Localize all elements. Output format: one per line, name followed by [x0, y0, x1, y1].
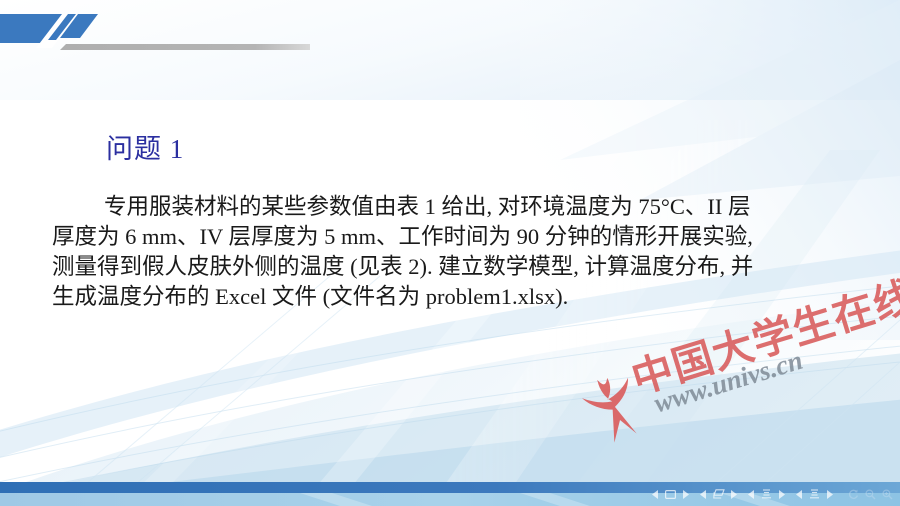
watermark-sub-text: www.univs.cn: [650, 345, 806, 420]
body-line-3: 测量得到假人皮肤外侧的温度 (见表 2). 建立数学模型, 计算温度分布, 并: [52, 252, 852, 282]
next-arrow-icon[interactable]: [823, 487, 836, 501]
page-title: 问题 1: [106, 127, 184, 166]
star-person-icon: [572, 360, 662, 456]
next-arrow-icon[interactable]: [727, 487, 740, 501]
prev-arrow-icon[interactable]: [745, 487, 758, 501]
body-line-4: 生成温度分布的 Excel 文件 (文件名为 problem1.xlsx).: [52, 282, 852, 312]
header-shapes: [0, 0, 340, 62]
layers-icon[interactable]: [712, 487, 725, 501]
next-arrow-icon[interactable]: [679, 487, 692, 501]
zoom-in-icon[interactable]: [881, 487, 894, 501]
nav-extra-controls[interactable]: [847, 487, 894, 501]
body-line-1: 专用服装材料的某些参数值由表 1 给出, 对环境温度为 75°C、II 层: [52, 192, 852, 222]
prev-arrow-icon[interactable]: [649, 487, 662, 501]
presentation-slide: 问题 1 专用服装材料的某些参数值由表 1 给出, 对环境温度为 75°C、II…: [0, 0, 900, 506]
body-paragraph: 专用服装材料的某些参数值由表 1 给出, 对环境温度为 75°C、II 层 厚度…: [52, 192, 852, 312]
watermark: 中国大学生在线 www.univs.cn: [560, 340, 900, 490]
nav-group-lines-alt[interactable]: [793, 487, 836, 501]
body-line-1-text: 专用服装材料的某些参数值由表 1 给出, 对环境温度为 75°C、II 层: [104, 194, 751, 219]
lines-icon[interactable]: [760, 487, 773, 501]
slide-navigation-bar[interactable]: [649, 485, 894, 503]
header-decoration: [0, 0, 340, 62]
prev-arrow-icon[interactable]: [697, 487, 710, 501]
nav-group-lines[interactable]: [745, 487, 788, 501]
body-line-2: 厚度为 6 mm、IV 层厚度为 5 mm、工作时间为 90 分钟的情形开展实验…: [52, 222, 852, 252]
slide-icon[interactable]: [664, 487, 677, 501]
lines-alt-icon[interactable]: [808, 487, 821, 501]
refresh-icon[interactable]: [847, 487, 860, 501]
nav-group-layers[interactable]: [697, 487, 740, 501]
next-arrow-icon[interactable]: [775, 487, 788, 501]
prev-arrow-icon[interactable]: [793, 487, 806, 501]
zoom-out-icon[interactable]: [864, 487, 877, 501]
nav-group-slide[interactable]: [649, 487, 692, 501]
